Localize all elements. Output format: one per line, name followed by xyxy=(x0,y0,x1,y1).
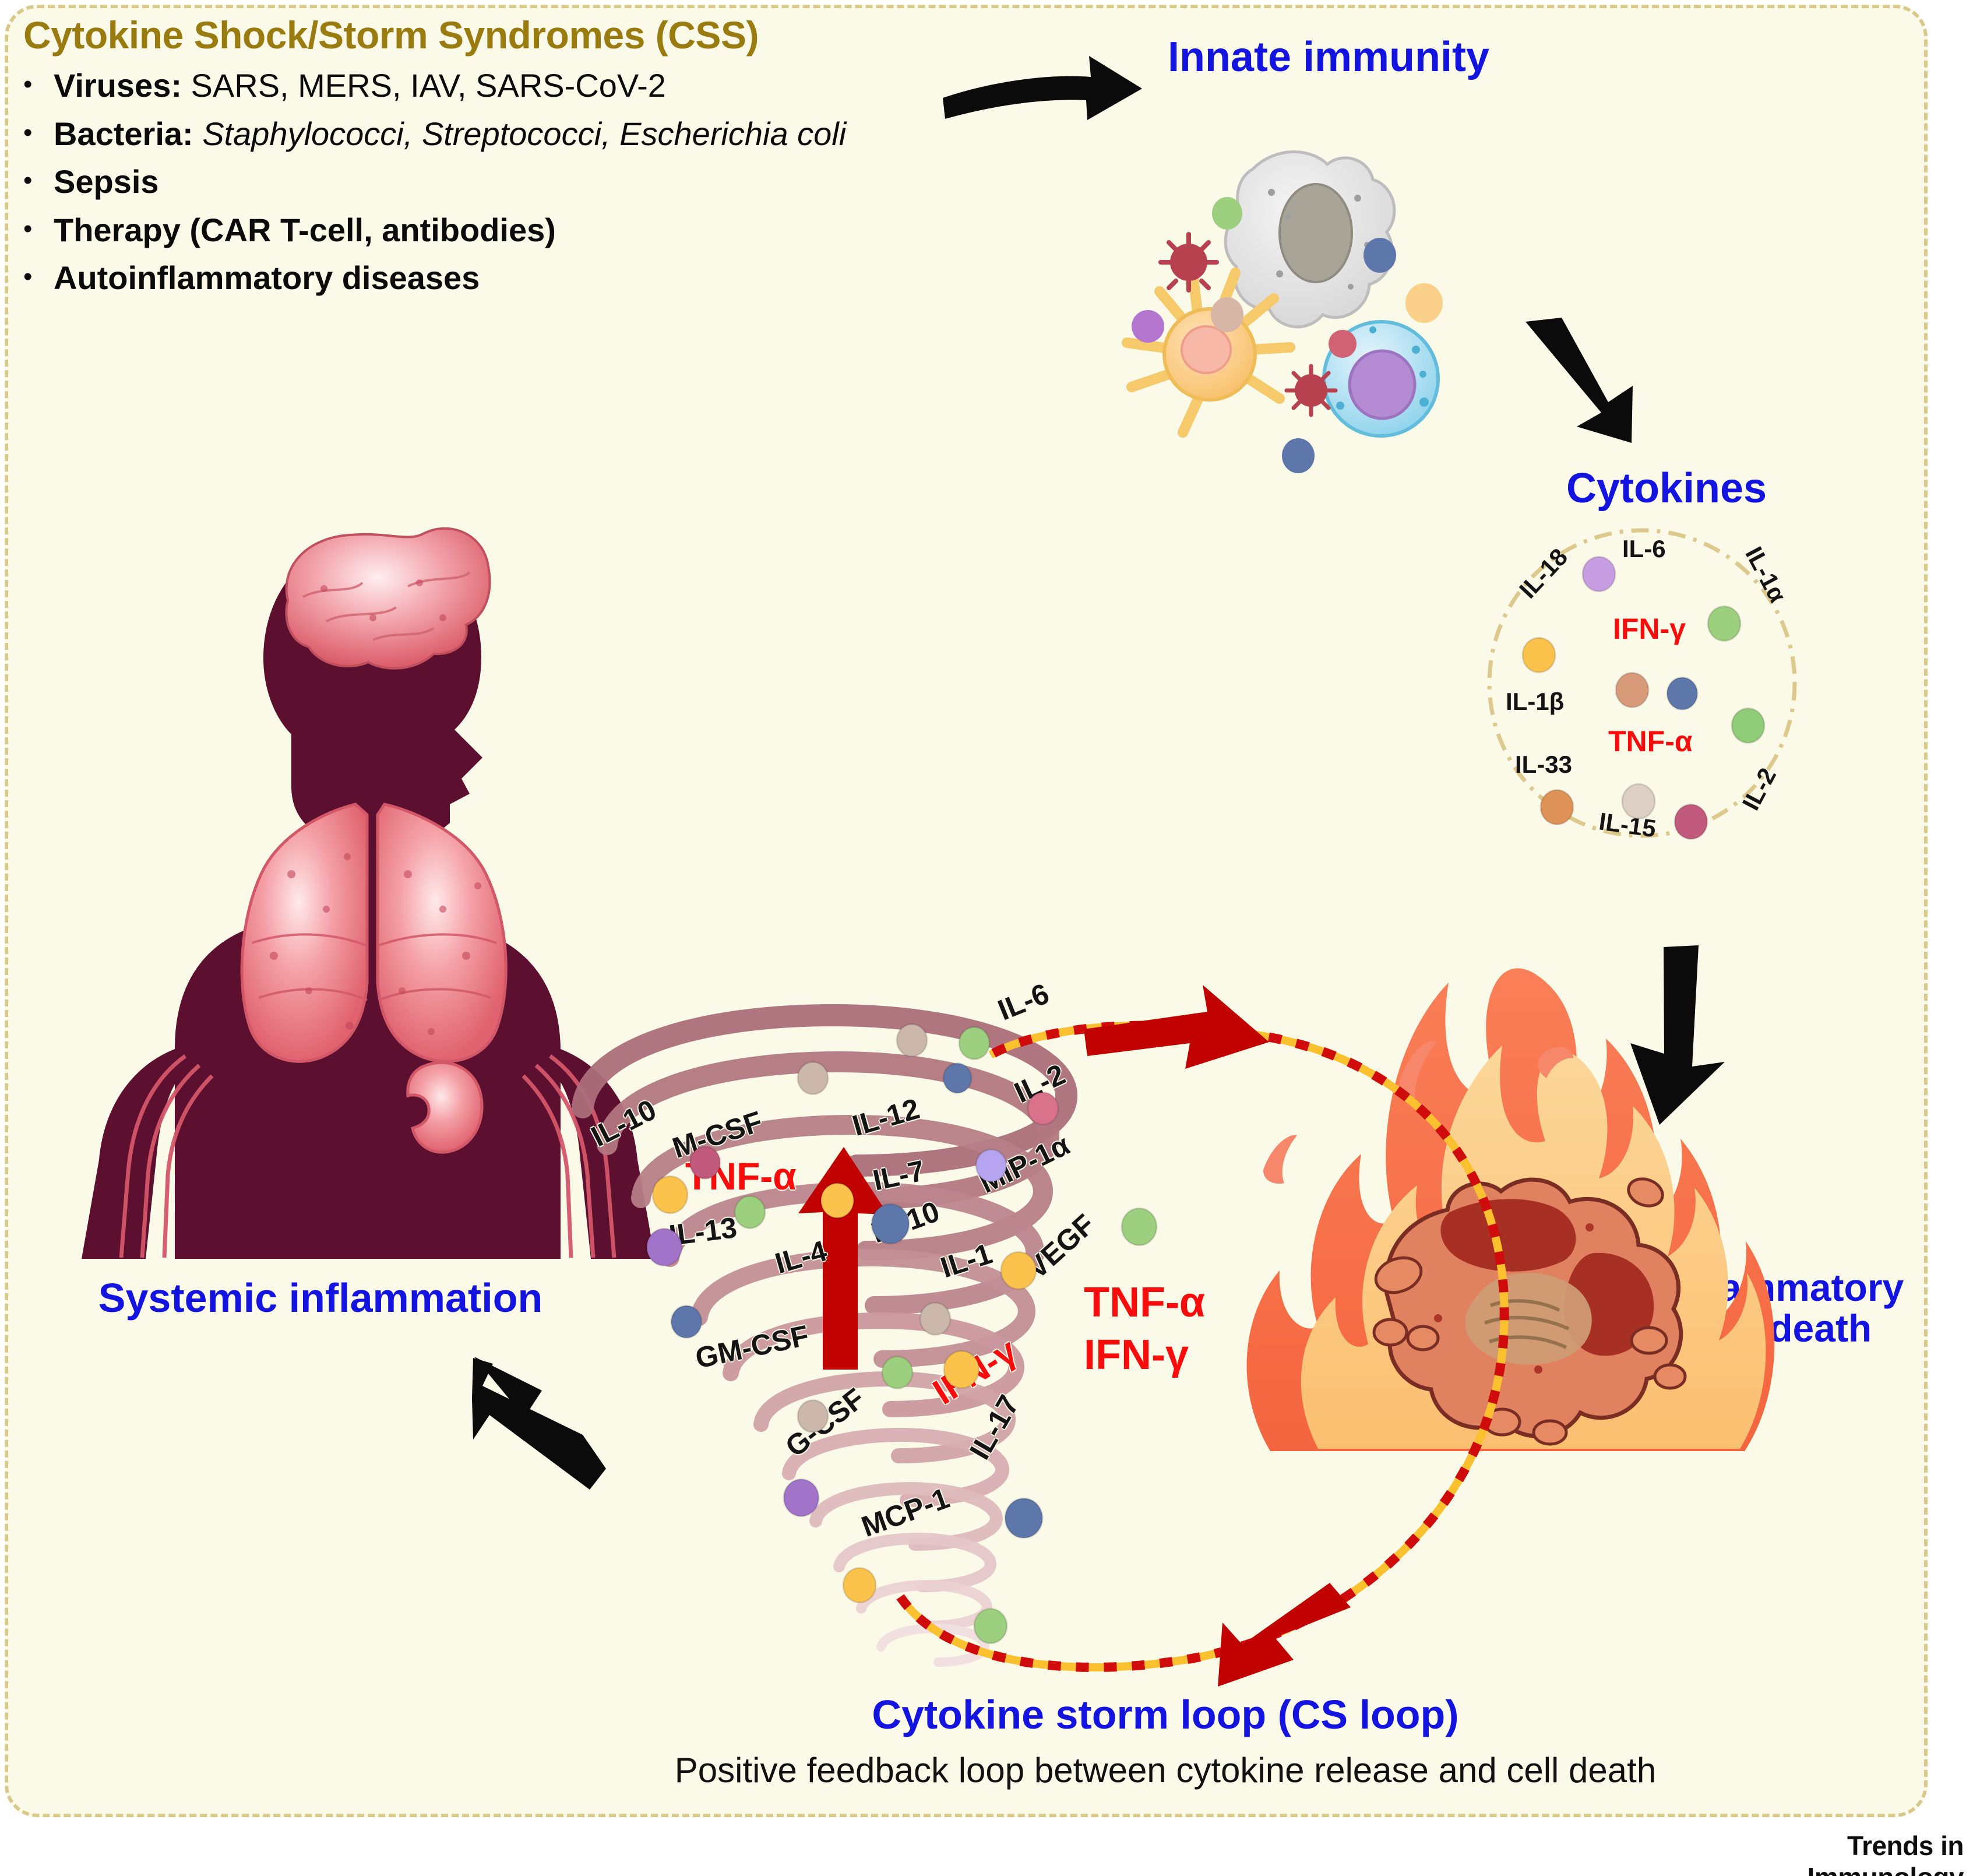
cytokine-label-il6: IL-6 xyxy=(1622,535,1666,563)
heading-line-2: cell death xyxy=(1694,1307,1872,1350)
bullet-label: Therapy (CAR T-cell, antibodies) xyxy=(54,212,556,248)
bullet-label: Viruses: xyxy=(54,67,182,104)
bullet-icon: • xyxy=(23,261,54,293)
list-item: • Bacteria: Staphylococci, Streptococci,… xyxy=(23,117,932,152)
css-title: Cytokine Shock/Storm Syndromes (CSS) xyxy=(23,15,932,55)
center-cytokine-pair: TNF-α IFN-γ xyxy=(1084,1276,1317,1381)
cytokine-label-il33: IL-33 xyxy=(1515,751,1572,779)
heading-innate-immunity: Innate immunity xyxy=(1090,35,1567,79)
cytokine-label-tnfa: TNF-α xyxy=(1608,724,1693,758)
bullet-label: Autoinflammatory diseases xyxy=(54,259,480,296)
list-item: • Sepsis xyxy=(23,164,932,199)
bullet-value xyxy=(193,115,203,152)
list-item: • Autoinflammatory diseases xyxy=(23,261,932,295)
figure-canvas: Cytokine Shock/Storm Syndromes (CSS) • V… xyxy=(0,0,1973,1876)
heading-cs-loop: Cytokine storm loop (CS loop) xyxy=(524,1693,1806,1736)
bullet-content: Therapy (CAR T-cell, antibodies) xyxy=(54,213,556,248)
tornado-label-tnfa: TNF-α xyxy=(685,1154,797,1198)
css-text-block: Cytokine Shock/Storm Syndromes (CSS) • V… xyxy=(23,15,932,296)
bullet-icon: • xyxy=(23,164,54,196)
bullet-value: SARS, MERS, IAV, SARS-CoV-2 xyxy=(182,67,666,104)
center-label-ifng: IFN-γ xyxy=(1084,1329,1317,1381)
journal-credit: Trends in Immunology xyxy=(1690,1830,1964,1876)
list-item: • Viruses: SARS, MERS, IAV, SARS-CoV-2 xyxy=(23,68,932,103)
heading-inflammatory-cell-death: Inflammatory cell death xyxy=(1597,1268,1970,1349)
bullet-icon: • xyxy=(23,68,54,100)
center-label-tnfa: TNF-α xyxy=(1084,1276,1317,1329)
heading-cytokines: Cytokines xyxy=(1492,466,1841,511)
bullet-italic-value: Staphylococci, Streptococci, Escherichia… xyxy=(202,115,846,152)
heading-systemic-inflammation: Systemic inflammation xyxy=(35,1276,606,1319)
bullet-content: Bacteria: Staphylococci, Streptococci, E… xyxy=(54,117,846,152)
bullet-content: Sepsis xyxy=(54,164,159,199)
bullet-icon: • xyxy=(23,213,54,245)
cytokine-label-ifng: IFN-γ xyxy=(1613,612,1686,646)
caption-cs-loop: Positive feedback loop between cytokine … xyxy=(524,1751,1806,1790)
bullet-label: Bacteria: xyxy=(54,115,193,152)
bullet-content: Viruses: SARS, MERS, IAV, SARS-CoV-2 xyxy=(54,68,666,103)
bullet-content: Autoinflammatory diseases xyxy=(54,261,480,295)
list-item: • Therapy (CAR T-cell, antibodies) xyxy=(23,213,932,248)
cytokine-label-il1b: IL-1β xyxy=(1506,688,1564,716)
bullet-label: Sepsis xyxy=(54,163,159,200)
heading-line-1: Inflammatory xyxy=(1662,1266,1904,1309)
bullet-icon: • xyxy=(23,117,54,149)
